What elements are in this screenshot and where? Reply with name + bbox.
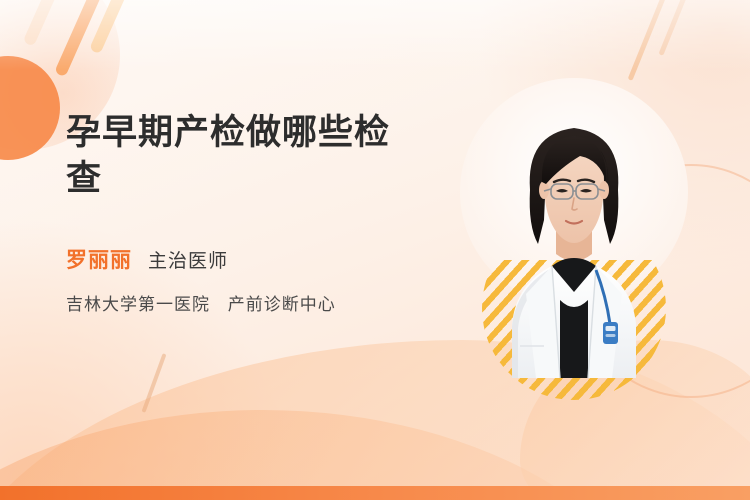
page-title: 孕早期产检做哪些检查: [66, 110, 396, 202]
byline: 罗丽丽 主治医师: [66, 244, 426, 274]
doctor-portrait: [460, 78, 688, 378]
text-block: 孕早期产检做哪些检查 罗丽丽 主治医师 吉林大学第一医院 产前诊断中心: [66, 110, 426, 315]
portrait-area: [460, 78, 688, 378]
department-name: 产前诊断中心: [228, 295, 336, 314]
bottom-accent-bar: [0, 486, 750, 500]
doctor-name: 罗丽丽: [66, 244, 132, 274]
affiliation: 吉林大学第一医院 产前诊断中心: [66, 290, 426, 315]
health-article-cover-card: 孕早期产检做哪些检查 罗丽丽 主治医师 吉林大学第一医院 产前诊断中心: [0, 0, 750, 500]
hospital-name: 吉林大学第一医院: [66, 295, 210, 314]
doctor-title: 主治医师: [148, 246, 228, 273]
